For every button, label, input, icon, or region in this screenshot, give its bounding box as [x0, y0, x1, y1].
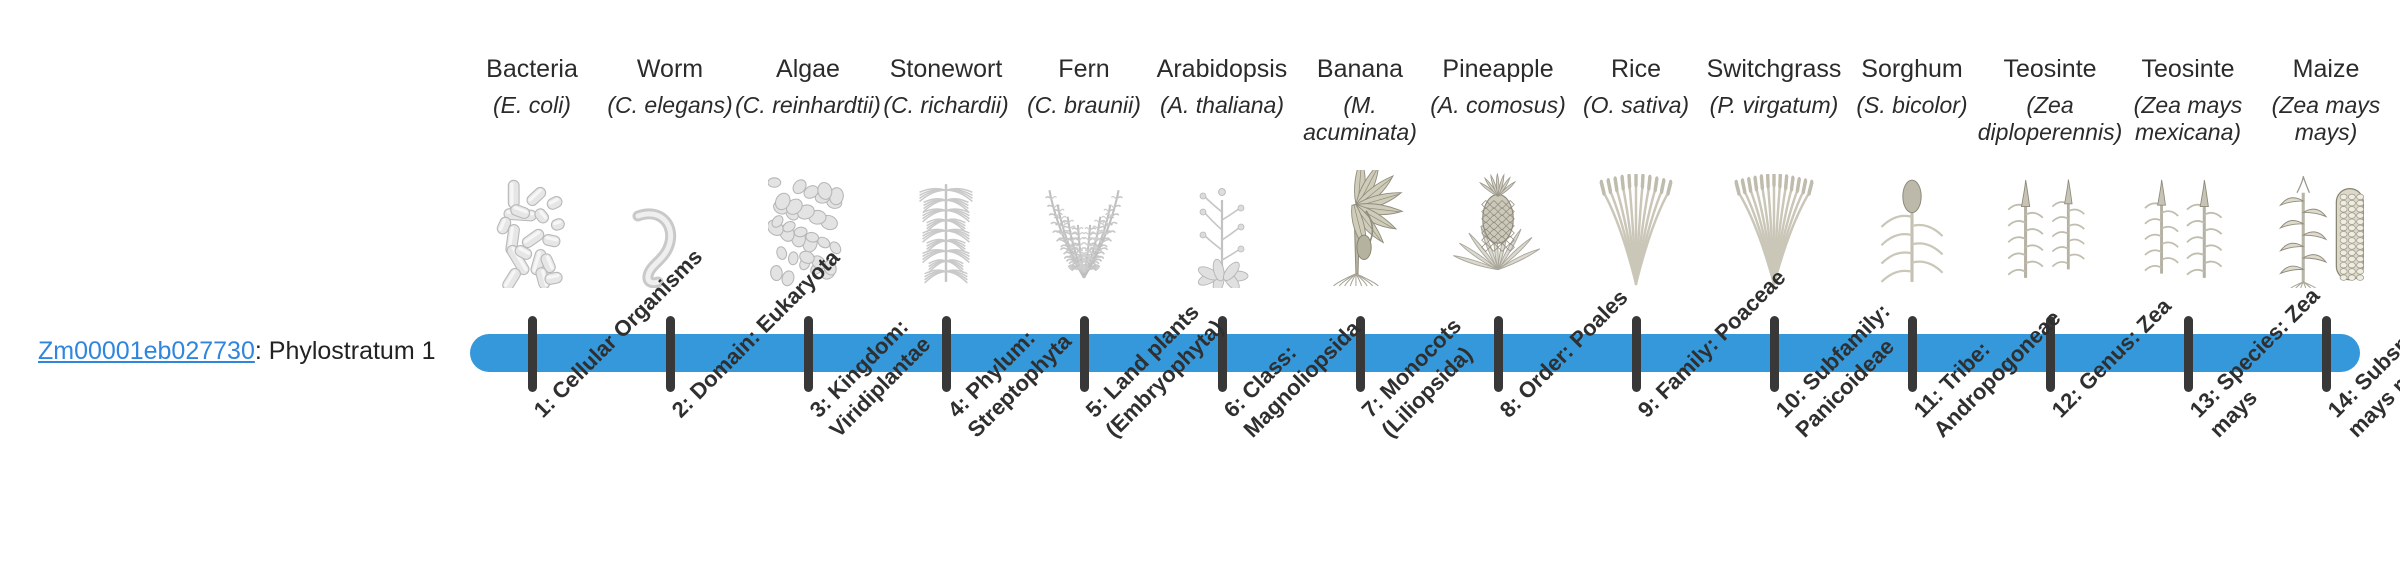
gene-id-link[interactable]: Zm00001eb027730	[38, 337, 255, 365]
bacteria-rods-icon	[457, 168, 607, 288]
species-scientific-name: (Zea mays mays)	[2251, 92, 2400, 146]
species-column-fern-4: Fern(C. braunii)	[1009, 54, 1159, 119]
species-scientific-name: (M. acuminata)	[1285, 92, 1435, 146]
tick-mark-9[interactable]	[1632, 316, 1641, 392]
species-common-name: Teosinte	[2113, 54, 2263, 84]
species-column-banana-6: Banana(M. acuminata)	[1285, 54, 1435, 146]
species-common-name: Arabidopsis	[1147, 54, 1297, 84]
gene-label-separator: :	[255, 337, 269, 365]
species-common-name: Pineapple	[1423, 54, 1573, 84]
species-scientific-name: (S. bicolor)	[1837, 92, 1987, 119]
species-scientific-name: (P. virgatum)	[1699, 92, 1849, 119]
species-column-stonewort-3: Stonewort(C. richardii)	[871, 54, 1021, 119]
species-scientific-name: (C. elegans)	[595, 92, 745, 119]
species-scientific-name: (Zea diploperennis)	[1975, 92, 2125, 146]
species-column-arabidopsis-5: Arabidopsis(A. thaliana)	[1147, 54, 1297, 119]
gene-phylostratum-value: Phylostratum 1	[269, 337, 436, 365]
species-column-maize-13: Maize(Zea mays mays)	[2251, 54, 2400, 146]
species-common-name: Switchgrass	[1699, 54, 1849, 84]
species-common-name: Bacteria	[457, 54, 607, 84]
species-column-teosinte-11: Teosinte(Zea diploperennis)	[1975, 54, 2125, 146]
species-column-teosinte-12: Teosinte(Zea mays mexicana)	[2113, 54, 2263, 146]
species-scientific-name: (A. comosus)	[1423, 92, 1573, 119]
species-column-bacteria-0: Bacteria(E. coli)	[457, 54, 607, 119]
species-common-name: Teosinte	[1975, 54, 2125, 84]
species-scientific-name: (C. richardii)	[871, 92, 1021, 119]
phylostratum-rank: Monocots (Liliopsida)	[1375, 313, 1477, 442]
species-common-name: Sorghum	[1837, 54, 1987, 84]
tick-mark-10[interactable]	[1770, 316, 1779, 392]
species-column-worm-1: Worm(C. elegans)	[595, 54, 745, 119]
species-scientific-name: (Zea mays mexicana)	[2113, 92, 2263, 146]
species-common-name: Banana	[1285, 54, 1435, 84]
species-common-name: Fern	[1009, 54, 1159, 84]
species-common-name: Maize	[2251, 54, 2400, 84]
species-column-pineapple-7: Pineapple(A. comosus)	[1423, 54, 1573, 119]
species-scientific-name: (O. sativa)	[1561, 92, 1711, 119]
species-scientific-name: (C. reinhardtii)	[733, 92, 883, 119]
species-scientific-name: (E. coli)	[457, 92, 607, 119]
species-column-switchgrass-9: Switchgrass(P. virgatum)	[1699, 54, 1849, 119]
species-column-sorghum-10: Sorghum(S. bicolor)	[1837, 54, 1987, 119]
species-common-name: Algae	[733, 54, 883, 84]
species-common-name: Worm	[595, 54, 745, 84]
species-column-algae-2: Algae(C. reinhardtii)	[733, 54, 883, 119]
species-common-name: Stonewort	[871, 54, 1021, 84]
tick-mark-2[interactable]	[666, 316, 675, 392]
tick-mark-3[interactable]	[804, 316, 813, 392]
tick-mark-13[interactable]	[2184, 316, 2193, 392]
tick-mark-1[interactable]	[528, 316, 537, 392]
phylostratigraphy-figure: Zm00001eb027730: Phylostratum 1 Bacteria…	[0, 0, 2400, 580]
species-scientific-name: (C. braunii)	[1009, 92, 1159, 119]
species-common-name: Rice	[1561, 54, 1711, 84]
phylostratum-rank: Tribe: Andropogoneae	[1929, 305, 2066, 442]
species-scientific-name: (A. thaliana)	[1147, 92, 1297, 119]
phylostratum-rank: Subfamily: Panicoideae	[1791, 298, 1899, 442]
gene-phylostratum-label: Zm00001eb027730: Phylostratum 1	[38, 339, 436, 364]
species-column-rice-8: Rice(O. sativa)	[1561, 54, 1711, 119]
